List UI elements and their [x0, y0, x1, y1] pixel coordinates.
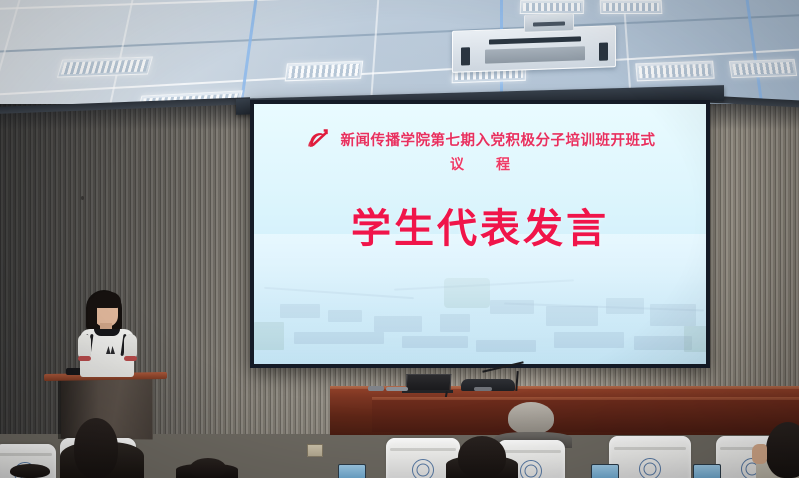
student-representative-speaker — [72, 288, 144, 380]
university-seal-icon — [520, 460, 542, 478]
university-seal-icon — [639, 458, 661, 478]
attendee-hand — [752, 444, 767, 464]
audience-row — [0, 402, 799, 478]
desk-accessory — [386, 387, 408, 391]
chair-with-cover — [609, 436, 691, 478]
attendee-head — [10, 464, 50, 478]
attendee-head — [766, 422, 799, 478]
projection-screen-frame: 新闻传播学院第七期入党积极分子培训班开班式 议 程 学生代表发言 — [250, 100, 710, 368]
cpc-hammer-sickle-emblem — [305, 126, 331, 152]
recessed-light-panel — [729, 59, 797, 78]
attendee-head — [508, 402, 554, 434]
audience-laptop — [338, 464, 366, 478]
speaker-collar — [94, 329, 120, 336]
recessed-light-panel — [520, 0, 584, 14]
sleeve-cuff — [124, 356, 137, 361]
wall-dot-fixture — [81, 196, 84, 200]
university-seal-icon — [412, 459, 434, 478]
slide-title: 新闻传播学院第七期入党积极分子培训班开班式 — [341, 129, 656, 150]
slide-subtitle: 议 程 — [254, 154, 706, 174]
audience-laptop — [693, 464, 721, 478]
audience-laptop — [591, 464, 619, 478]
projection-screen: 新闻传播学院第七期入党积极分子培训班开班式 议 程 学生代表发言 — [254, 104, 706, 364]
desk-accessory — [368, 386, 384, 391]
desk-accessory — [474, 387, 492, 391]
projector-mount — [524, 13, 574, 33]
recessed-light-panel — [600, 0, 663, 14]
recessed-light-panel — [635, 61, 714, 82]
sleeve-cuff — [78, 356, 91, 361]
attendee-head — [74, 418, 118, 478]
lecture-hall-photo: 新闻传播学院第七期入党积极分子培训班开班式 议 程 学生代表发言 — [0, 0, 799, 478]
recessed-light-panel — [57, 56, 153, 77]
attendee-head — [190, 458, 226, 478]
slide-header: 新闻传播学院第七期入党积极分子培训班开班式 — [254, 126, 706, 152]
speaker-hair-side — [88, 298, 97, 328]
slide-main-text: 学生代表发言 — [254, 196, 706, 254]
attendee-head — [458, 436, 506, 478]
recessed-light-panel — [285, 61, 364, 82]
